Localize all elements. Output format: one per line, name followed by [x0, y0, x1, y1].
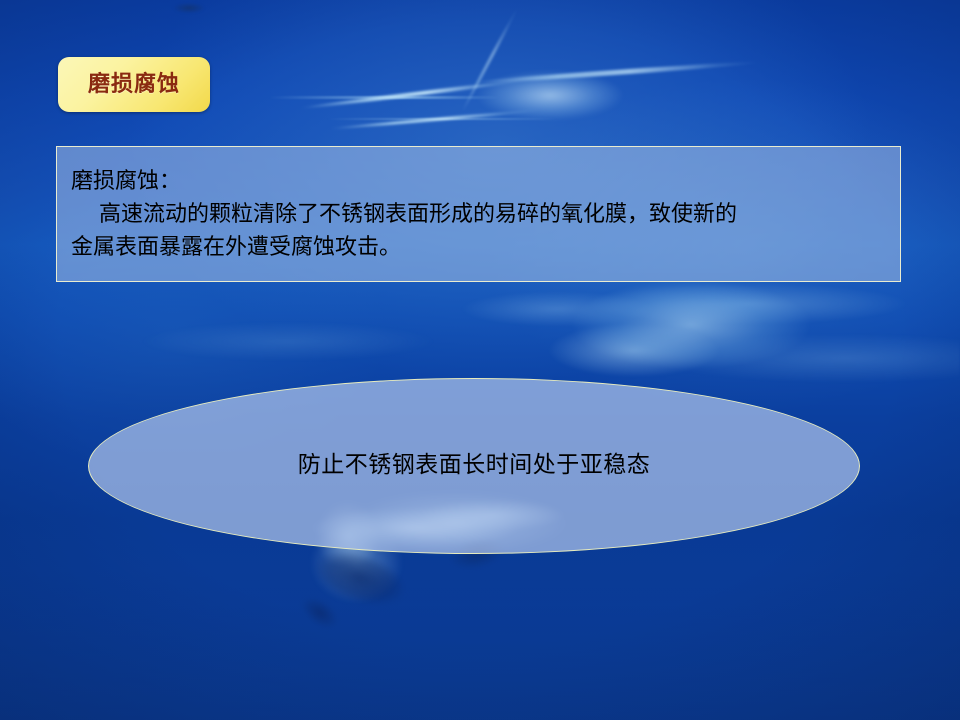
water-spray-burst — [455, 52, 645, 122]
title-badge-label: 磨损腐蚀 — [88, 74, 180, 96]
slide-canvas: 磨损腐蚀 磨损腐蚀： 高速流动的颗粒清除了不锈钢表面形成的易碎的氧化膜，致使新的… — [0, 0, 960, 720]
dark-speck — [168, 0, 210, 16]
body-text: 磨损腐蚀： 高速流动的颗粒清除了不锈钢表面形成的易碎的氧化膜，致使新的 金属表面… — [71, 165, 884, 264]
title-badge: 磨损腐蚀 — [58, 57, 210, 112]
deep-water-haze — [0, 570, 960, 720]
ellipse-callout-label: 防止不锈钢表面长时间处于亚稳态 — [298, 452, 651, 480]
body-text-panel: 磨损腐蚀： 高速流动的颗粒清除了不锈钢表面形成的易碎的氧化膜，致使新的 金属表面… — [56, 146, 901, 282]
ellipse-callout: 防止不锈钢表面长时间处于亚稳态 — [88, 378, 860, 554]
